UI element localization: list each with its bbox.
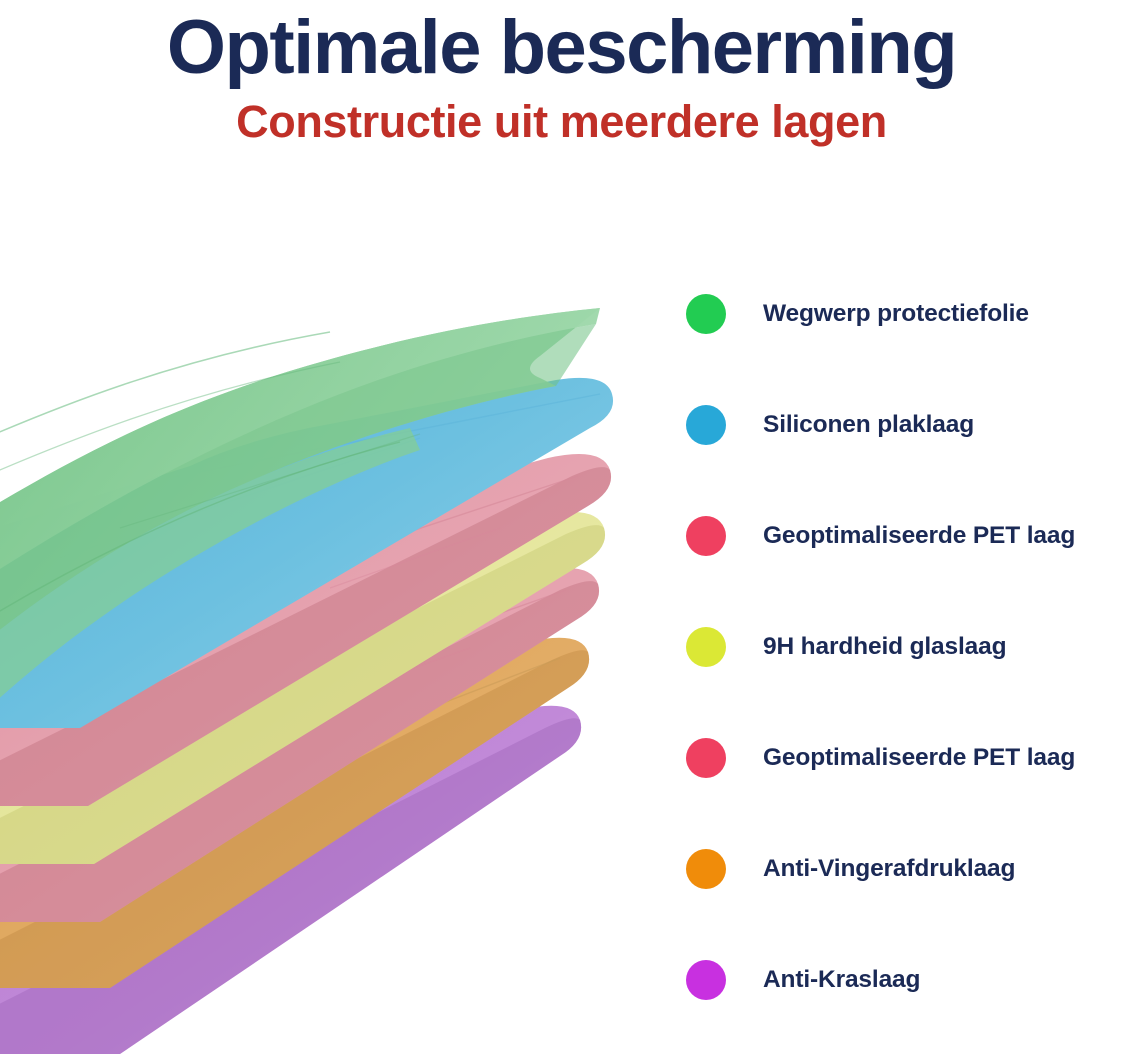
legend-item-label: Siliconen plaklaag xyxy=(763,410,1123,440)
legend-item-4[interactable]: Geoptimaliseerde PET laag xyxy=(686,702,1123,813)
dot-green-icon xyxy=(686,294,726,334)
legend-item-5[interactable]: Anti-Vingerafdruklaag xyxy=(686,813,1123,924)
infographic-page: Optimale bescherming Constructie uit mee… xyxy=(0,0,1123,1054)
dot-magenta-icon xyxy=(686,960,726,1000)
legend-item-label: Wegwerp protectiefolie xyxy=(763,299,1123,329)
dot-red-icon xyxy=(686,516,726,556)
legend-item-2[interactable]: Geoptimaliseerde PET laag xyxy=(686,480,1123,591)
page-title: Optimale bescherming xyxy=(0,4,1123,92)
page-subtitle: Constructie uit meerdere lagen xyxy=(0,92,1123,150)
legend-item-label: 9H hardheid glaslaag xyxy=(763,632,1123,662)
legend-item-6[interactable]: Anti-Kraslaag xyxy=(686,924,1123,1035)
legend-item-label: Geoptimaliseerde PET laag xyxy=(763,521,1123,551)
dot-orange-icon xyxy=(686,849,726,889)
dot-blue-icon xyxy=(686,405,726,445)
legend-item-1[interactable]: Siliconen plaklaag xyxy=(686,369,1123,480)
header: Optimale bescherming Constructie uit mee… xyxy=(0,0,1123,150)
layer-stack-illustration xyxy=(0,228,640,1054)
legend-item-3[interactable]: 9H hardheid glaslaag xyxy=(686,591,1123,702)
legend-item-label: Geoptimaliseerde PET laag xyxy=(763,743,1123,773)
dot-red-icon xyxy=(686,738,726,778)
legend-item-label: Anti-Kraslaag xyxy=(763,965,1123,995)
layer-legend: Wegwerp protectiefolie Siliconen plaklaa… xyxy=(686,258,1123,1035)
legend-item-0[interactable]: Wegwerp protectiefolie xyxy=(686,258,1123,369)
dot-yellow-icon xyxy=(686,627,726,667)
legend-item-label: Anti-Vingerafdruklaag xyxy=(763,854,1123,884)
